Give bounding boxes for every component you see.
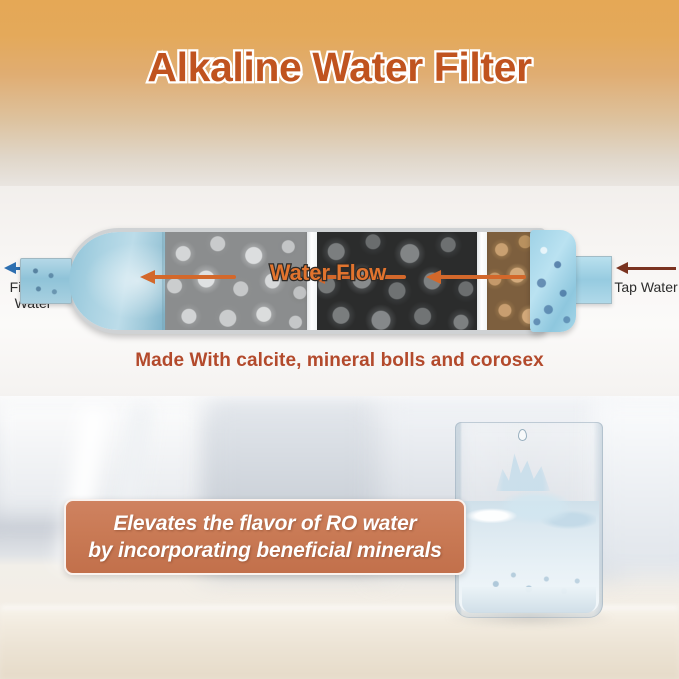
- callout-line-2: by incorporating beneficial minerals: [88, 537, 441, 564]
- outlet-port: [20, 258, 72, 304]
- lifestyle-photo-section: Elevates the flavor of RO water by incor…: [0, 396, 679, 679]
- cartridge-right-cap: [530, 230, 576, 332]
- background-cabinet-6: [592, 396, 679, 576]
- water-splash-crown: [496, 445, 550, 491]
- page-title: Alkaline Water Filter: [0, 44, 679, 91]
- tap-water-label-group: Tap Water: [612, 262, 679, 295]
- filter-diagram: Filtered Water Water Fl: [0, 214, 679, 336]
- water-glass: [455, 422, 603, 618]
- inlet-port: [572, 256, 612, 304]
- callout-line-1: Elevates the flavor of RO water: [113, 510, 416, 537]
- glass-base: [462, 587, 596, 613]
- water-droplet-icon: [518, 429, 527, 441]
- benefit-callout-banner: Elevates the flavor of RO water by incor…: [64, 499, 466, 575]
- water-splash: [462, 485, 596, 541]
- flow-arrow-icon-3: [426, 270, 526, 284]
- water-flow-label: Water Flow: [253, 260, 403, 286]
- tap-water-arrow-icon: [616, 262, 676, 274]
- header-banner: Alkaline Water Filter: [0, 0, 679, 196]
- tap-water-label: Tap Water: [612, 279, 679, 295]
- materials-caption: Made With calcite, mineral bolls and cor…: [0, 350, 679, 372]
- flow-arrow-icon-1: [140, 270, 236, 284]
